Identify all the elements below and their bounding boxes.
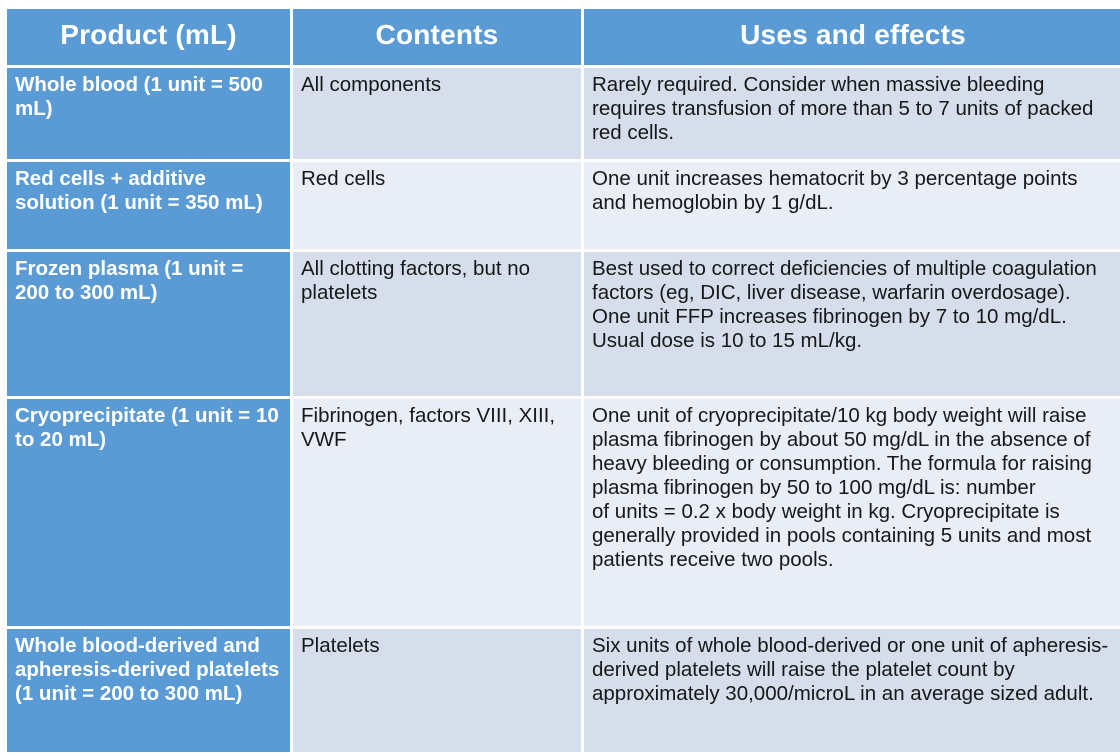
cell-uses: Best used to correct deficiencies of mul… [584, 252, 1120, 396]
table-row: Cryoprecipitate (1 unit = 10 to 20 mL) F… [7, 399, 1120, 626]
product-text: Frozen plasma (1 unit = 200 to 300 mL) [15, 257, 282, 305]
cell-uses: Rarely required. Consider when massive b… [584, 68, 1120, 159]
column-header-product: Product (mL) [7, 9, 290, 65]
cell-product: Red cells + additive solution (1 unit = … [7, 162, 290, 249]
cell-product: Cryoprecipitate (1 unit = 10 to 20 mL) [7, 399, 290, 626]
table-header: Product (mL) Contents Uses and effects [7, 9, 1120, 65]
cell-uses: Six units of whole blood-derived or one … [584, 629, 1120, 752]
cell-product: Whole blood-derived and apheresis-derive… [7, 629, 290, 752]
cell-uses: One unit increases hematocrit by 3 perce… [584, 162, 1120, 249]
contents-text: All components [301, 73, 573, 97]
table-row: Whole blood-derived and apheresis-derive… [7, 629, 1120, 752]
product-text: Red cells + additive solution (1 unit = … [15, 167, 282, 215]
uses-text: Rarely required. Consider when massive b… [592, 73, 1114, 145]
product-text: Whole blood-derived and apheresis-derive… [15, 634, 282, 706]
contents-text: Red cells [301, 167, 573, 191]
data-table: Product (mL) Contents Uses and effects W… [4, 6, 1120, 755]
cell-product: Whole blood (1 unit = 500 mL) [7, 68, 290, 159]
uses-text: Best used to correct deficiencies of mul… [592, 257, 1114, 353]
table-body: Whole blood (1 unit = 500 mL) All compon… [7, 68, 1120, 752]
table-row: Whole blood (1 unit = 500 mL) All compon… [7, 68, 1120, 159]
column-header-contents: Contents [293, 9, 581, 65]
cell-contents: Fibrinogen, factors VIII, XIII, VWF [293, 399, 581, 626]
uses-text: One unit increases hematocrit by 3 perce… [592, 167, 1114, 215]
cell-product: Frozen plasma (1 unit = 200 to 300 mL) [7, 252, 290, 396]
contents-text: All clotting factors, but no platelets [301, 257, 573, 305]
table-row: Frozen plasma (1 unit = 200 to 300 mL) A… [7, 252, 1120, 396]
cell-contents: All clotting factors, but no platelets [293, 252, 581, 396]
cell-uses: One unit of cryoprecipitate/10 kg body w… [584, 399, 1120, 626]
contents-text: Fibrinogen, factors VIII, XIII, VWF [301, 404, 573, 452]
product-text: Whole blood (1 unit = 500 mL) [15, 73, 282, 121]
table-row: Red cells + additive solution (1 unit = … [7, 162, 1120, 249]
header-row: Product (mL) Contents Uses and effects [7, 9, 1120, 65]
blood-products-table: Product (mL) Contents Uses and effects W… [0, 0, 1120, 709]
uses-text: One unit of cryoprecipitate/10 kg body w… [592, 404, 1114, 572]
column-header-uses: Uses and effects [584, 9, 1120, 65]
uses-text: Six units of whole blood-derived or one … [592, 634, 1114, 706]
cell-contents: All components [293, 68, 581, 159]
product-text: Cryoprecipitate (1 unit = 10 to 20 mL) [15, 404, 282, 452]
cell-contents: Red cells [293, 162, 581, 249]
cell-contents: Platelets [293, 629, 581, 752]
contents-text: Platelets [301, 634, 573, 658]
